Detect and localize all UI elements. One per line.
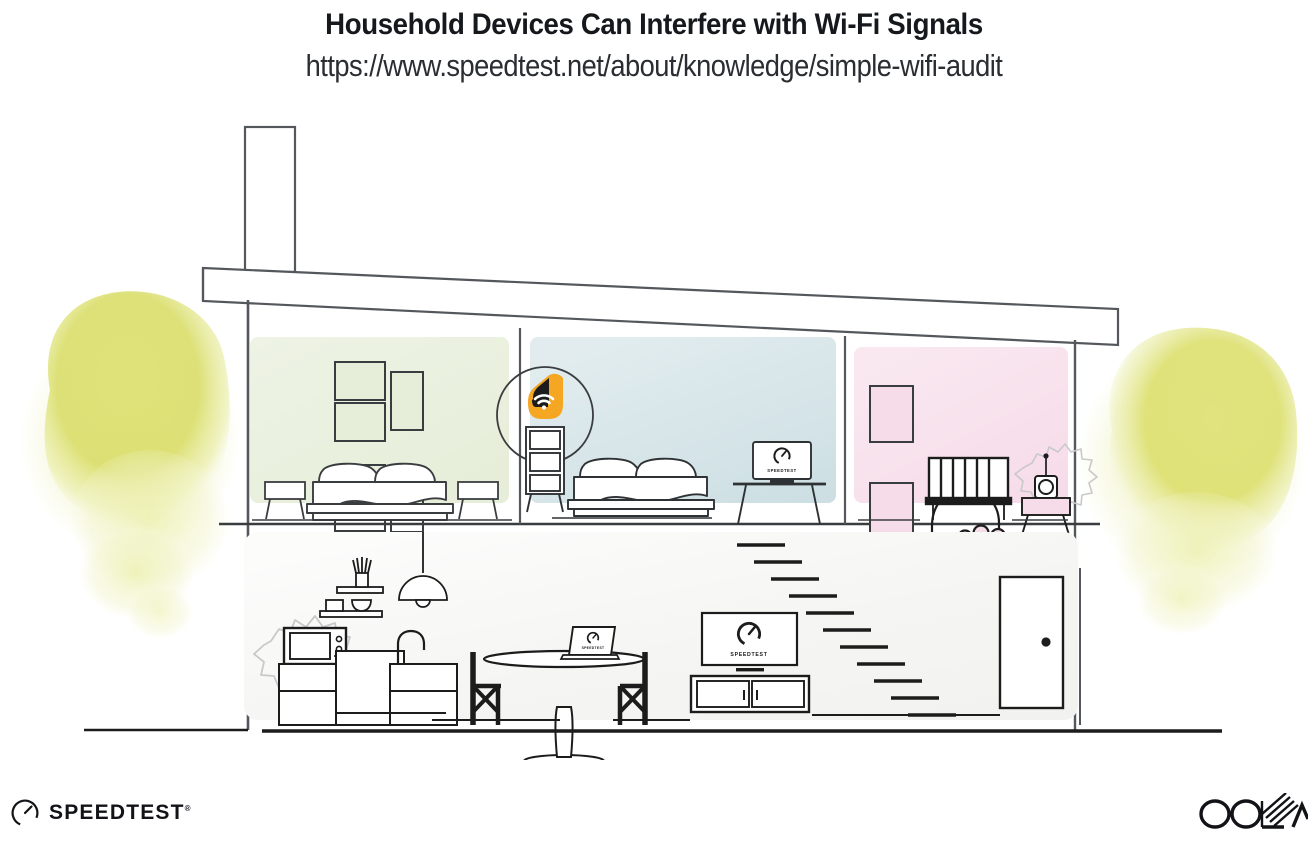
tree-right: [1080, 328, 1304, 634]
laptop-screen-label: SPEEDTEST: [582, 646, 605, 650]
poster-header: Household Devices Can Interfere with Wi-…: [0, 0, 1308, 84]
room-blue-bedroom: SPEEDTEST: [530, 337, 836, 524]
room-pink-nursery: [854, 347, 1097, 558]
bed-blue-room: [568, 459, 714, 516]
speedtest-trademark: ®: [185, 804, 191, 813]
wall-art-nursery: [870, 483, 913, 539]
tv-screen-label: SPEEDTEST: [730, 652, 767, 658]
speedtest-logo: SPEEDTEST®: [10, 798, 191, 828]
speedtest-gauge-icon-logo: [10, 798, 40, 828]
tree-left: [22, 291, 238, 638]
bed-green-room: [307, 464, 453, 520]
ookla-wordmark: [1198, 793, 1308, 835]
wall-art-nursery-frame: [870, 386, 913, 442]
poster-canvas: Household Devices Can Interfere with Wi-…: [0, 0, 1308, 861]
chimney: [245, 127, 295, 272]
living-room-tv: SPEEDTEST: [702, 613, 797, 671]
room-green-bedroom: [250, 337, 512, 532]
desktop-monitor: SPEEDTEST: [753, 442, 811, 483]
nightstand-nursery: [1022, 498, 1070, 535]
media-console: [691, 676, 809, 712]
crib: [926, 458, 1011, 520]
source-url: https://www.speedtest.net/about/knowledg…: [78, 42, 1229, 84]
roof: [203, 268, 1118, 345]
monitor-screen-label: SPEEDTEST: [767, 468, 796, 473]
front-door[interactable]: [1000, 577, 1063, 708]
ookla-logo: [1198, 793, 1308, 835]
page-title: Household Devices Can Interfere with Wi-…: [52, 0, 1255, 42]
house-cutaway-illustration: SPEEDTEST: [0, 100, 1308, 760]
door-knob-icon: [1041, 637, 1050, 646]
speedtest-wordmark: SPEEDTEST®: [49, 801, 191, 825]
ground-line: [84, 730, 1222, 731]
speedtest-wordmark-text: SPEEDTEST: [49, 801, 185, 824]
